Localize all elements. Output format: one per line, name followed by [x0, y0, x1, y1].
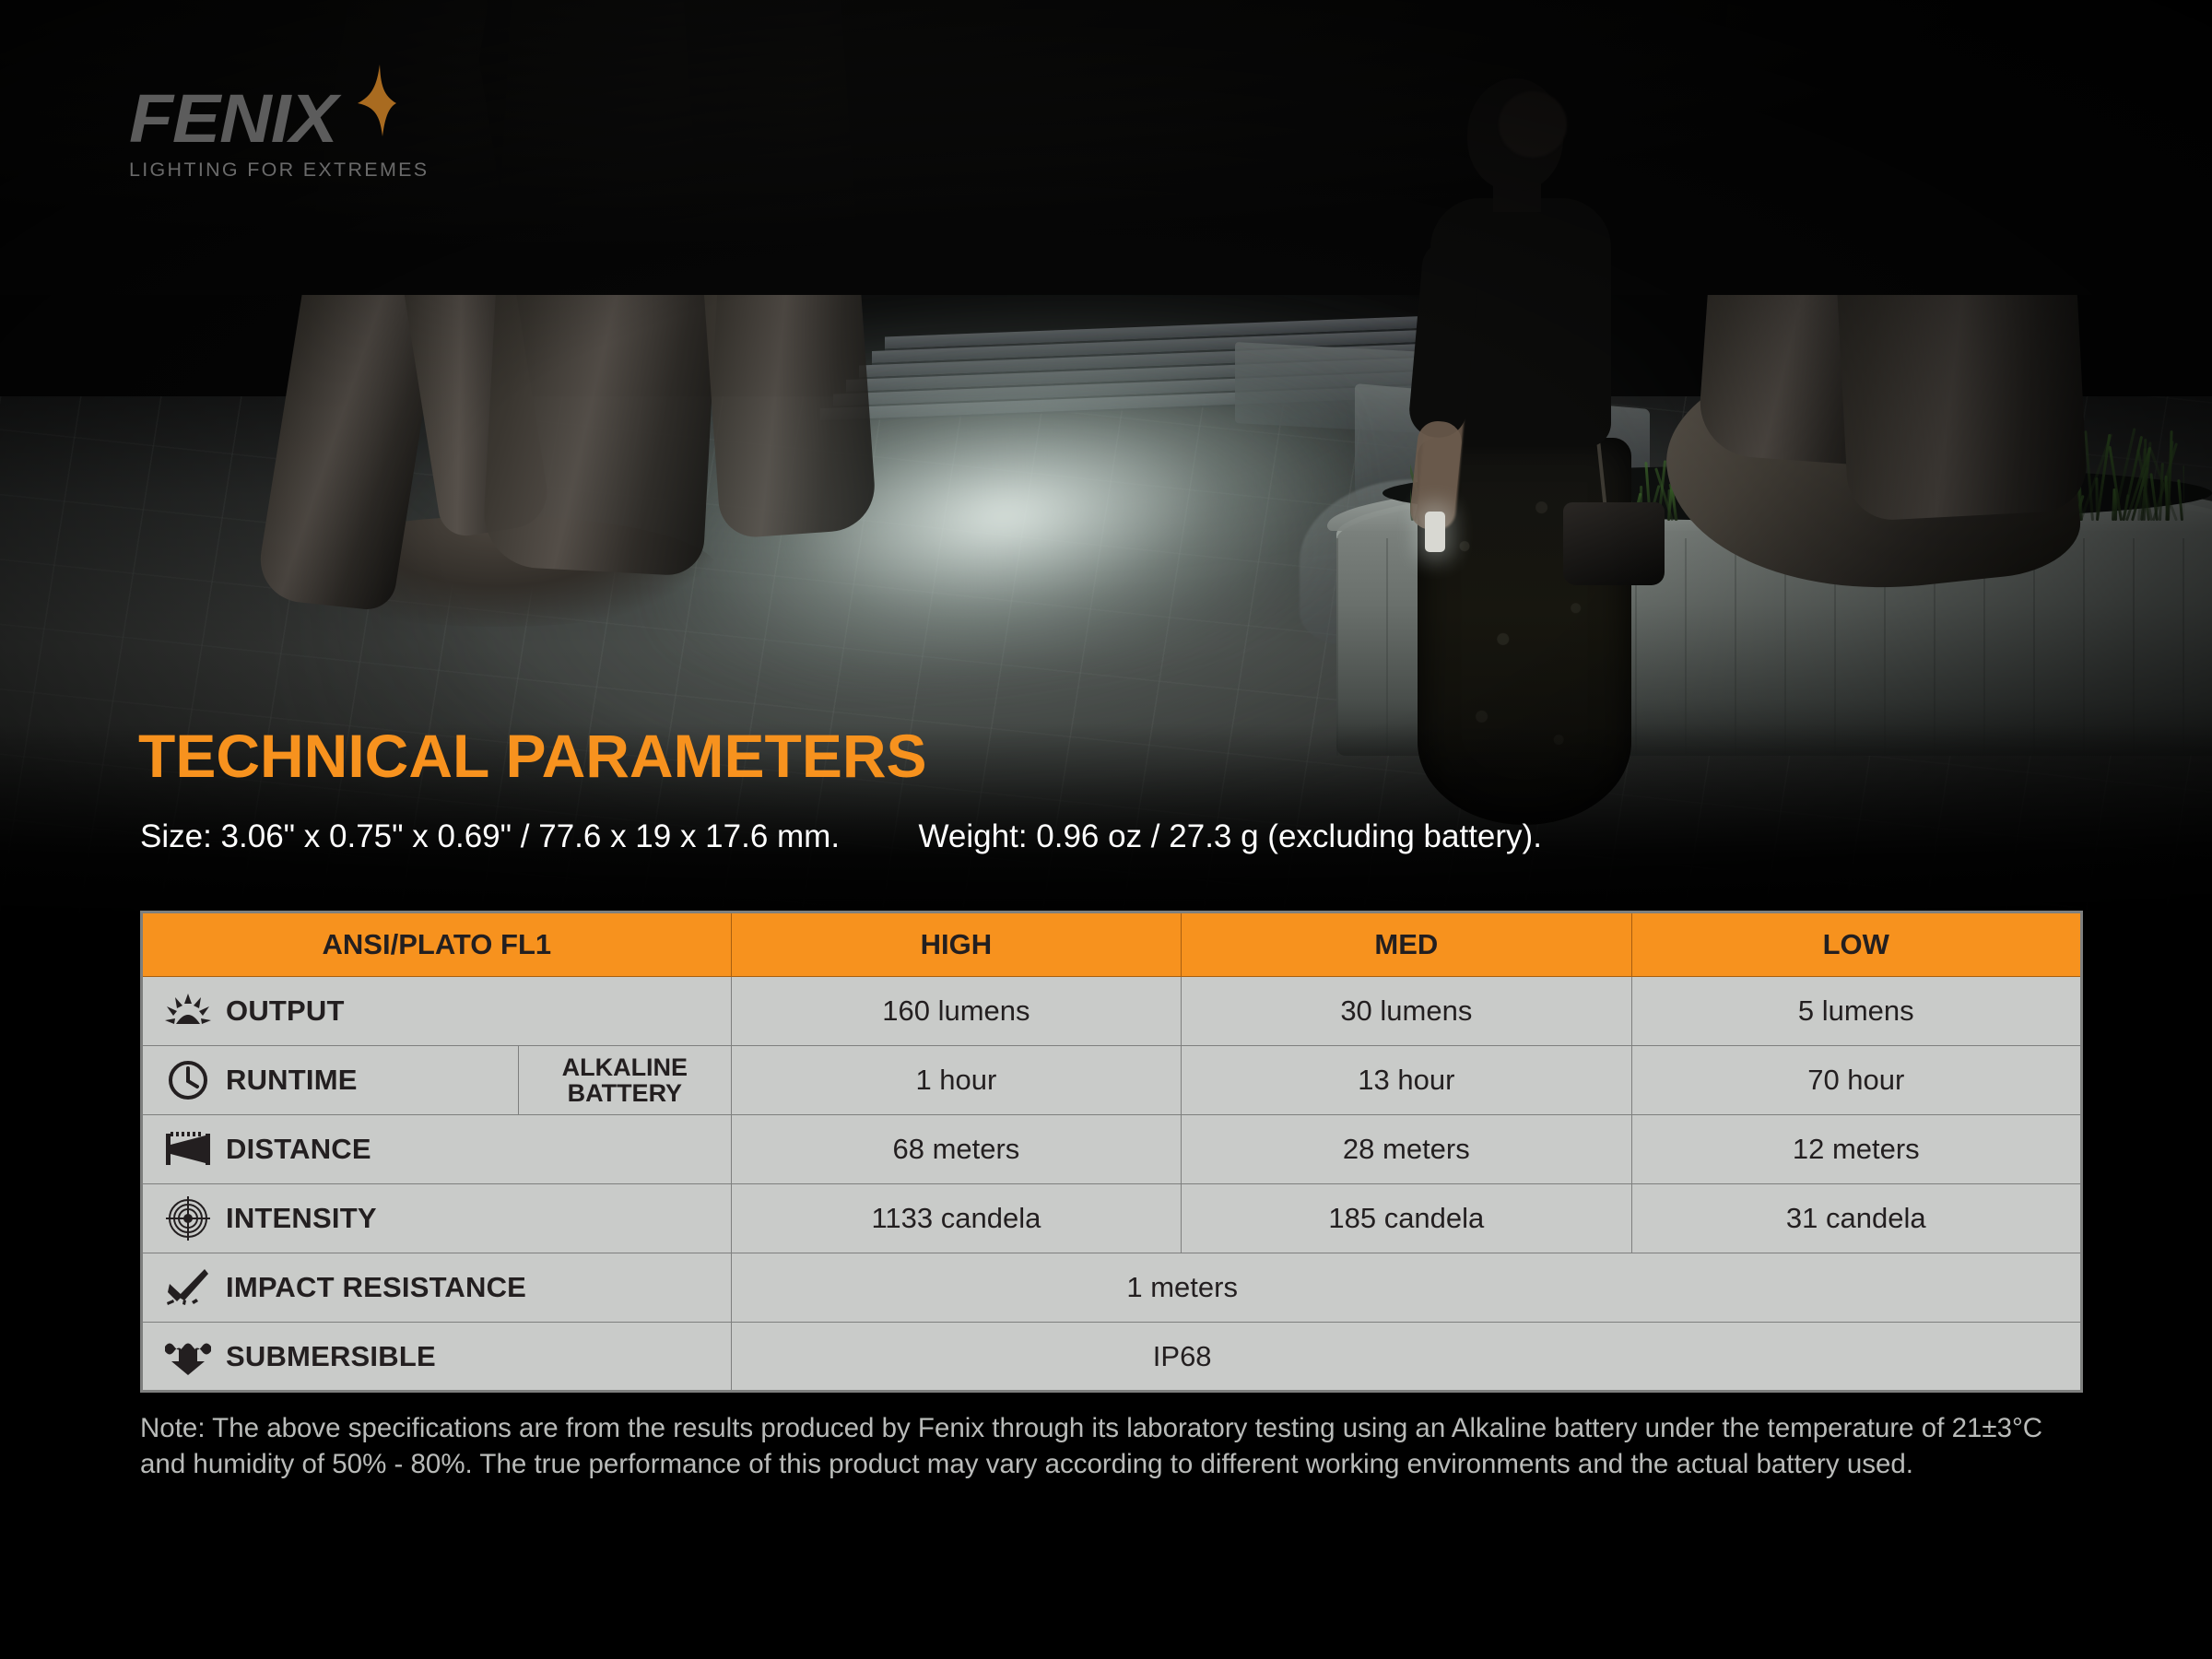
- row-label-text: RUNTIME: [226, 1064, 358, 1097]
- cell-runtime-med: 13 hour: [1182, 1046, 1631, 1115]
- header-low: LOW: [1631, 912, 2081, 977]
- clock-icon: [163, 1059, 213, 1101]
- cell-distance-high: 68 meters: [731, 1115, 1181, 1184]
- header-standard: ANSI/PLATO FL1: [142, 912, 732, 977]
- table-header-row: ANSI/PLATO FL1 HIGH MED LOW: [142, 912, 2082, 977]
- table-row: IMPACT RESISTANCE 1 meters: [142, 1253, 2082, 1323]
- cell-distance-low: 12 meters: [1631, 1115, 2081, 1184]
- cell-output-med: 30 lumens: [1182, 977, 1631, 1046]
- cell-submersible-value: IP68: [731, 1323, 2081, 1392]
- cell-intensity-low: 31 candela: [1631, 1184, 2081, 1253]
- cell-impact-value: 1 meters: [731, 1253, 2081, 1323]
- runtime-battery-sublabel: ALKALINE BATTERY: [519, 1046, 731, 1114]
- size-weight-line: Size: 3.06" x 0.75" x 0.69" / 77.6 x 19 …: [140, 818, 1542, 855]
- fenix-logo: FENIX LIGHTING FOR EXTREMES: [129, 85, 525, 205]
- impact-drop-icon: [163, 1267, 213, 1308]
- weight-text: Weight: 0.96 oz / 27.3 g (excluding batt…: [919, 818, 1542, 854]
- row-label-intensity: INTENSITY: [142, 1184, 732, 1253]
- table-row: SUBMERSIBLE IP68: [142, 1323, 2082, 1392]
- cell-runtime-low: 70 hour: [1631, 1046, 2081, 1115]
- cell-runtime-high: 1 hour: [731, 1046, 1181, 1115]
- specs-table: ANSI/PLATO FL1 HIGH MED LOW: [140, 911, 2083, 1393]
- flashlight: [1425, 512, 1445, 552]
- table-row: DISTANCE 68 meters 28 meters 12 meters: [142, 1115, 2082, 1184]
- product-spec-page: FENIX LIGHTING FOR EXTREMES TECHNICAL PA…: [0, 0, 2212, 1659]
- submersible-wave-icon: [163, 1337, 213, 1376]
- header-med: MED: [1182, 912, 1631, 977]
- fenix-wordmark: FENIX: [129, 85, 549, 153]
- row-label-submersible: SUBMERSIBLE: [142, 1323, 732, 1392]
- page-title: TECHNICAL PARAMETERS: [138, 721, 927, 791]
- sublabel-line1: ALKALINE: [562, 1053, 688, 1081]
- impact-value-text: 1 meters: [732, 1271, 1633, 1304]
- header-high: HIGH: [731, 912, 1181, 977]
- row-label-output: OUTPUT: [142, 977, 732, 1046]
- cell-distance-med: 28 meters: [1182, 1115, 1631, 1184]
- cell-intensity-high: 1133 candela: [731, 1184, 1181, 1253]
- sublabel-line2: BATTERY: [568, 1079, 683, 1107]
- table-row: OUTPUT 160 lumens 30 lumens 5 lumens: [142, 977, 2082, 1046]
- target-intensity-icon: [163, 1196, 213, 1241]
- row-label-runtime: RUNTIME ALKALINE BATTERY: [142, 1046, 732, 1115]
- row-label-text: DISTANCE: [226, 1133, 371, 1166]
- cell-output-high: 160 lumens: [731, 977, 1181, 1046]
- light-burst-icon: [163, 993, 213, 1030]
- table-row: RUNTIME ALKALINE BATTERY 1 hour 13 hour …: [142, 1046, 2082, 1115]
- handbag: [1563, 502, 1665, 585]
- fenix-tagline: LIGHTING FOR EXTREMES: [129, 159, 525, 182]
- submersible-value-text: IP68: [732, 1340, 1633, 1373]
- row-label-text: INTENSITY: [226, 1202, 377, 1235]
- row-label-impact: IMPACT RESISTANCE: [142, 1253, 732, 1323]
- row-label-text: OUTPUT: [226, 994, 345, 1028]
- person-with-flashlight: [1410, 78, 1650, 816]
- footnote: Note: The above specifications are from …: [140, 1410, 2087, 1482]
- person-hair-bun: [1499, 91, 1567, 158]
- row-label-distance: DISTANCE: [142, 1115, 732, 1184]
- row-label-text: IMPACT RESISTANCE: [226, 1271, 526, 1304]
- beam-distance-icon: [163, 1130, 213, 1169]
- row-label-text: SUBMERSIBLE: [226, 1340, 436, 1373]
- cell-intensity-med: 185 candela: [1182, 1184, 1631, 1253]
- size-text: Size: 3.06" x 0.75" x 0.69" / 77.6 x 19 …: [140, 818, 840, 854]
- table-row: INTENSITY 1133 candela 185 candela 31 ca…: [142, 1184, 2082, 1253]
- cell-output-low: 5 lumens: [1631, 977, 2081, 1046]
